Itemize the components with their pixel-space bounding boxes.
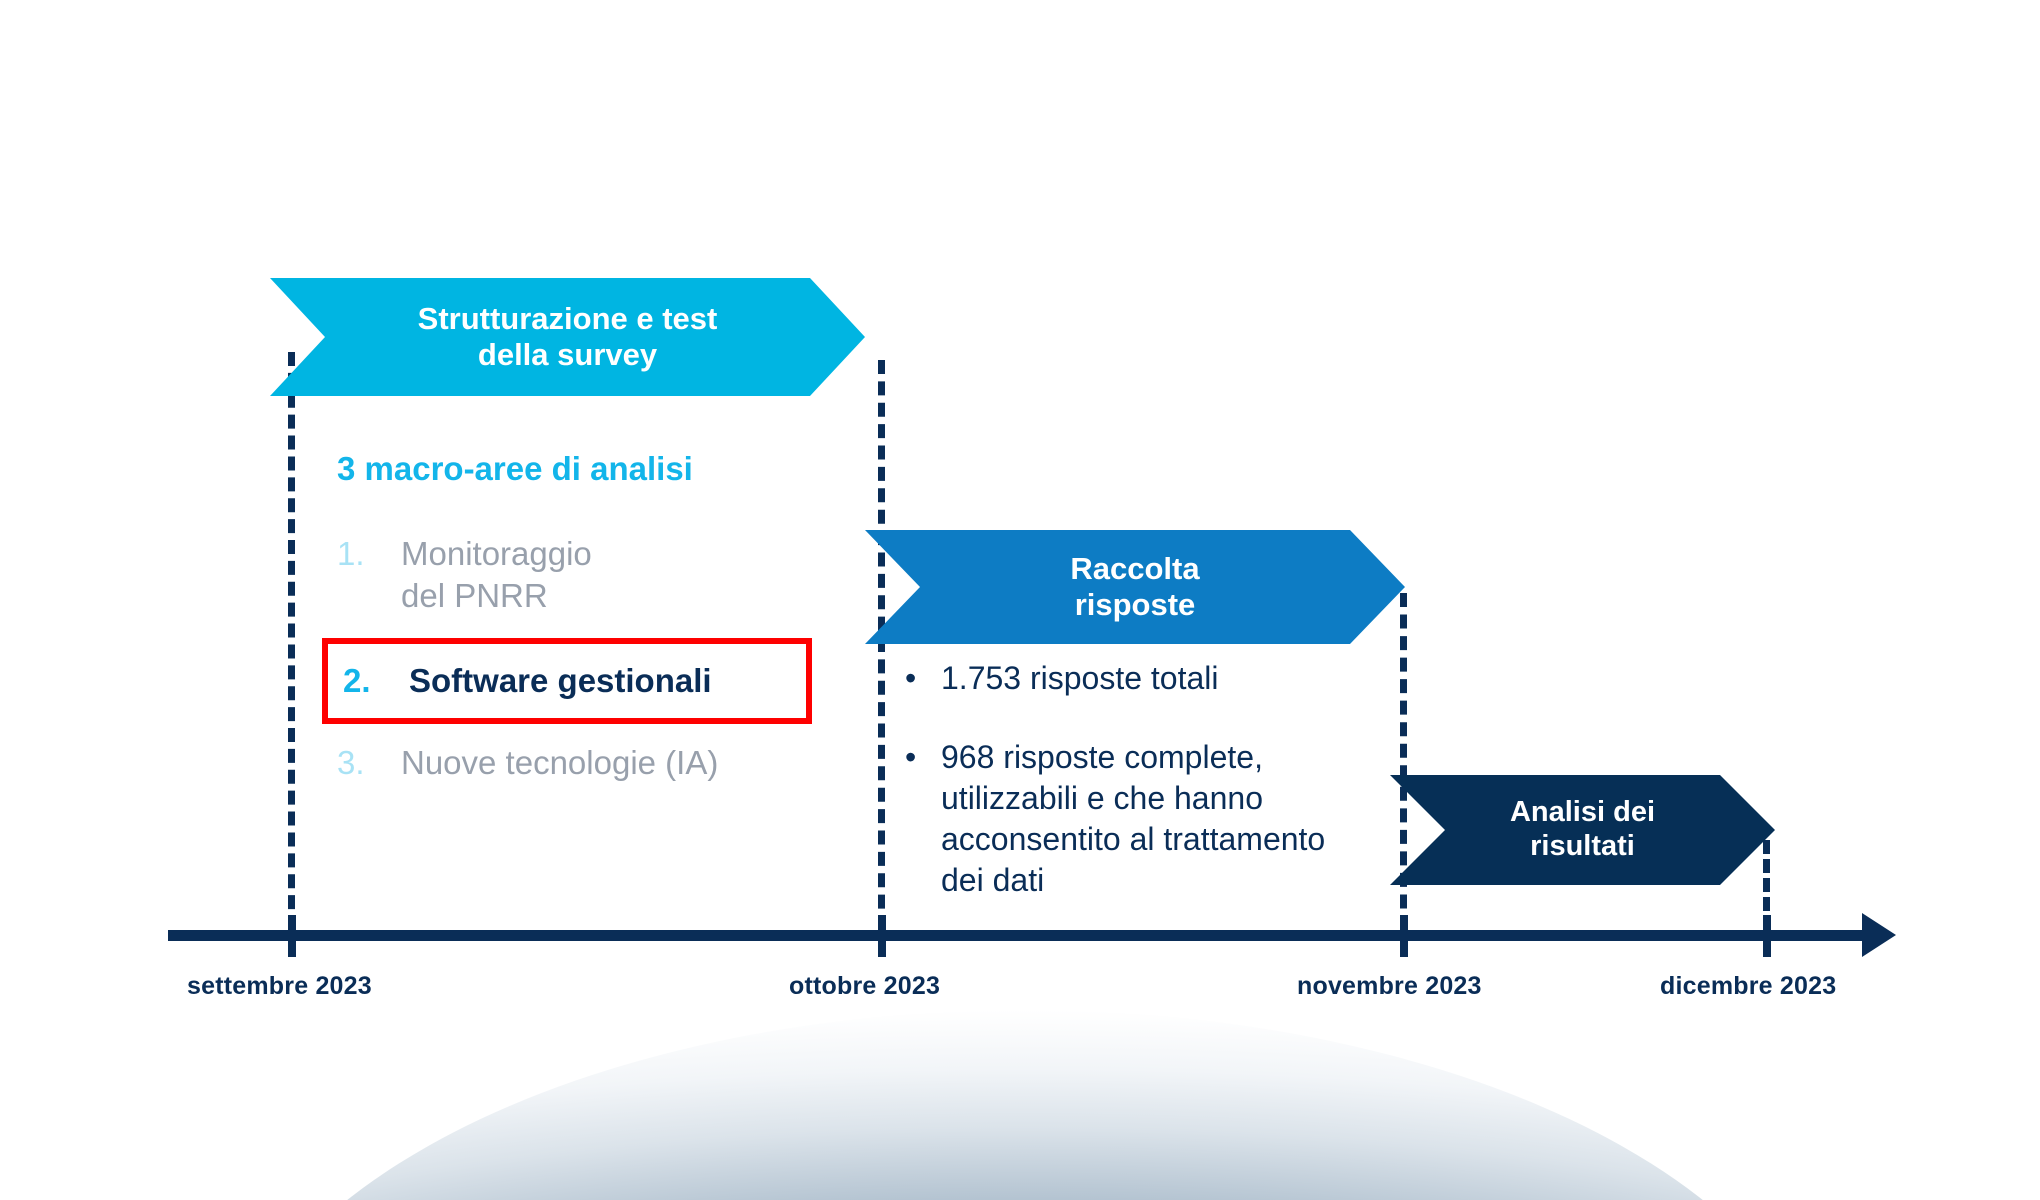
timeline-label-settembre: settembre 2023 <box>187 972 372 1001</box>
phase-banner-analisi-line1: Analisi dei <box>1510 796 1655 830</box>
phase-banner-strutturazione-line2: della survey <box>418 337 718 373</box>
dashed-connector-ottobre <box>878 360 885 930</box>
responses-bullet-1-text: 1.753 risposte totali <box>941 658 1219 699</box>
macro-area-item-1-line1: Monitoraggio <box>401 535 592 572</box>
decorative-dome-gradient <box>215 1010 1835 1200</box>
macro-area-item-1-label: Monitoraggio del PNRR <box>401 533 592 617</box>
phase-banner-raccolta[interactable]: Raccolta risposte <box>865 530 1405 644</box>
responses-bullet-list: • 1.753 risposte totali • 968 risposte c… <box>905 658 1335 939</box>
macro-area-item-2-number: 2. <box>343 660 409 702</box>
phase-banner-raccolta-line1: Raccolta <box>1070 551 1199 587</box>
list-item: • 1.753 risposte totali <box>905 658 1335 699</box>
macro-area-item-2-label: Software gestionali <box>409 660 712 702</box>
macro-area-item-2-highlighted[interactable]: 2. Software gestionali <box>322 638 812 724</box>
timeline-arrow-icon <box>1862 913 1896 957</box>
timeline-label-novembre: novembre 2023 <box>1297 972 1482 1001</box>
bullet-point-icon: • <box>905 737 941 778</box>
timeline-tick-settembre <box>288 915 296 957</box>
macro-area-item-1-number: 1. <box>337 533 401 575</box>
phase-banner-strutturazione[interactable]: Strutturazione e test della survey <box>270 278 865 396</box>
macro-area-item-1: 1. Monitoraggio del PNRR <box>337 533 592 617</box>
timeline-tick-dicembre <box>1763 915 1771 957</box>
macro-area-item-1-line2: del PNRR <box>401 577 548 614</box>
phase-banner-analisi[interactable]: Analisi dei risultati <box>1390 775 1775 885</box>
dashed-connector-settembre <box>288 352 295 930</box>
timeline-tick-novembre <box>1400 915 1408 957</box>
phase-banner-raccolta-line2: risposte <box>1070 587 1199 623</box>
timeline-axis <box>168 930 1868 941</box>
bullet-point-icon: • <box>905 658 941 699</box>
list-item: • 968 risposte complete, utilizzabili e … <box>905 737 1335 901</box>
phase-banner-analisi-line2: risultati <box>1510 830 1655 864</box>
slide-canvas: Strutturazione e test della survey 3 mac… <box>0 0 2040 1200</box>
timeline-label-ottobre: ottobre 2023 <box>789 972 940 1001</box>
macro-area-item-3-number: 3. <box>337 742 401 784</box>
macro-area-item-3-label: Nuove tecnologie (IA) <box>401 742 718 784</box>
timeline-label-dicembre: dicembre 2023 <box>1660 972 1836 1001</box>
macro-areas-heading: 3 macro-aree di analisi <box>337 450 693 488</box>
responses-bullet-2-text: 968 risposte complete, utilizzabili e ch… <box>941 737 1335 901</box>
timeline-tick-ottobre <box>878 915 886 957</box>
macro-area-item-3: 3. Nuove tecnologie (IA) <box>337 742 718 784</box>
phase-banner-strutturazione-line1: Strutturazione e test <box>418 301 718 337</box>
